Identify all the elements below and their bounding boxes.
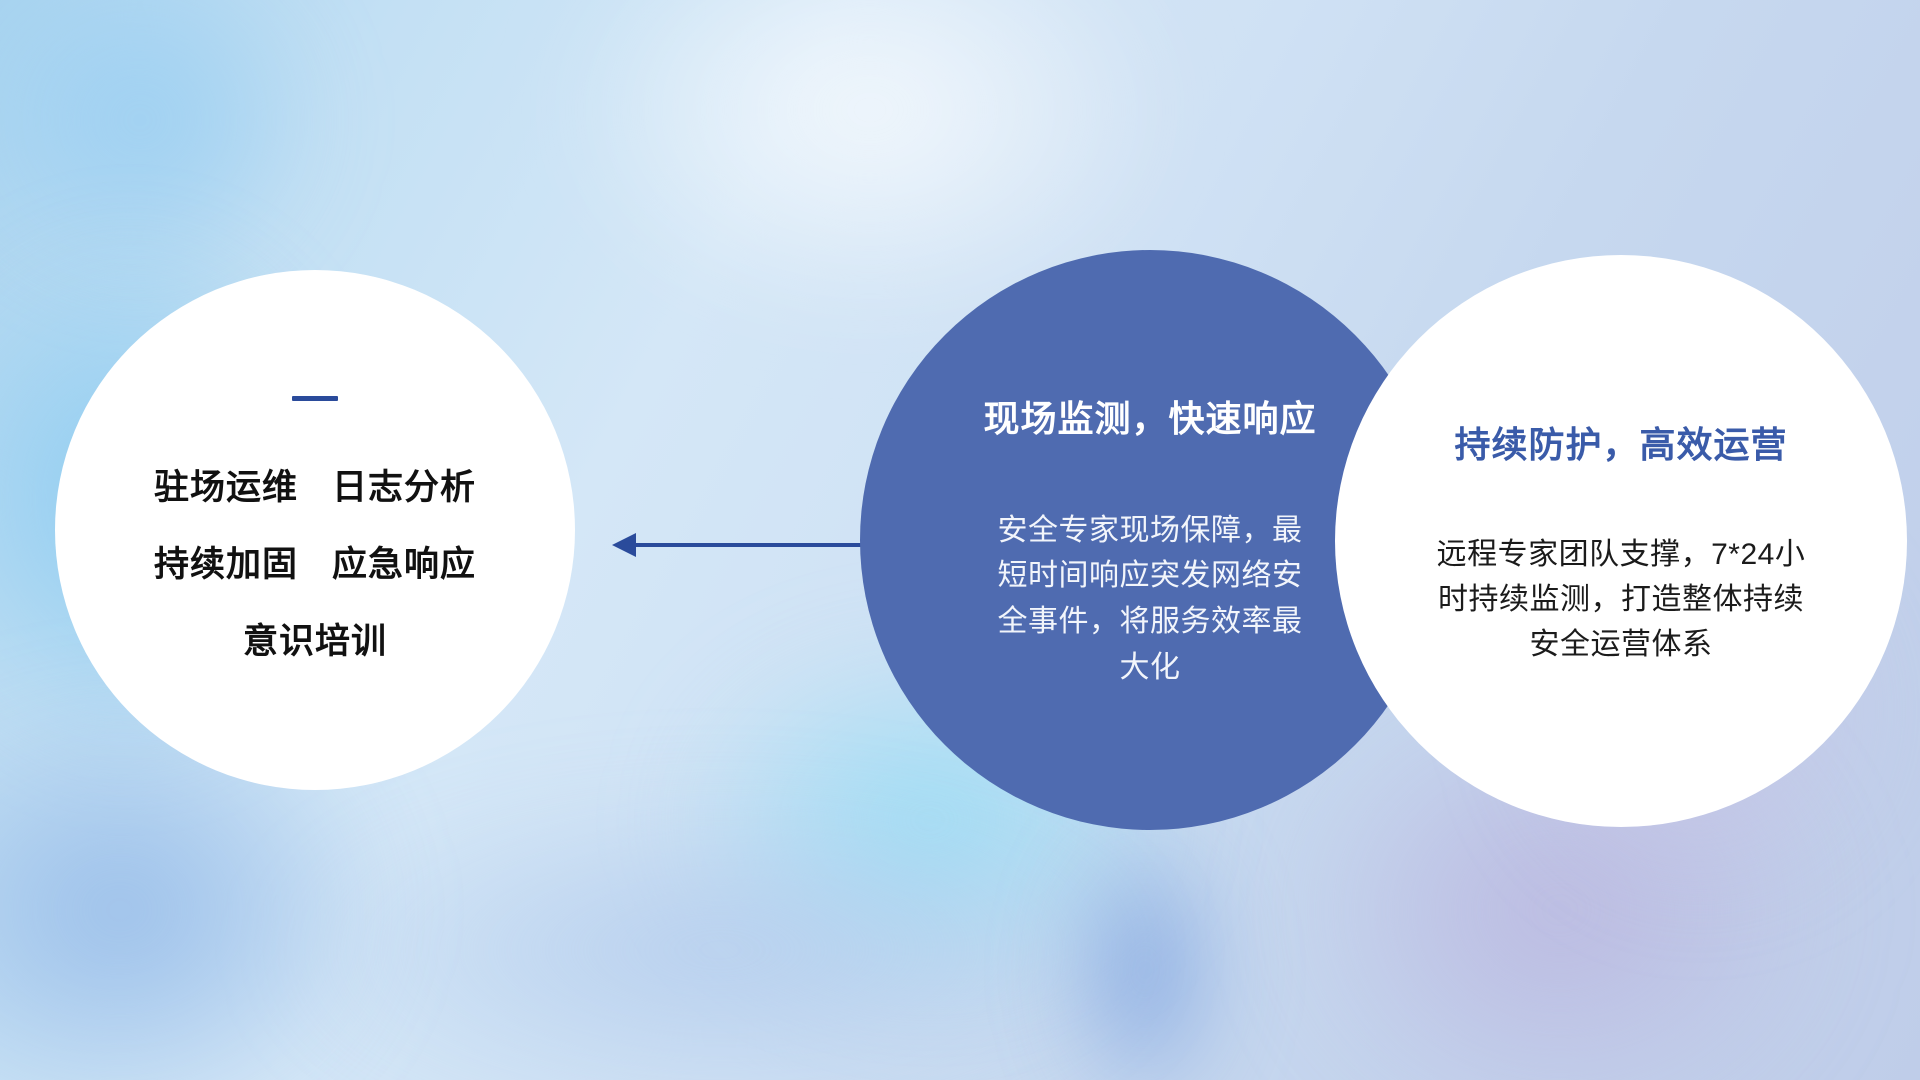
capability-keyword: 日志分析 <box>332 459 476 510</box>
capability-keyword-row: 驻场运维 日志分析 <box>154 459 476 510</box>
accent-dash-icon <box>292 396 338 401</box>
node-title: 持续防护，高效运营 <box>1454 416 1787 468</box>
capability-keyword: 意识培训 <box>243 613 387 664</box>
capability-keyword: 驻场运维 <box>154 459 298 510</box>
capability-keyword: 应急响应 <box>332 536 476 587</box>
capability-keyword-row: 持续加固 应急响应 <box>154 536 476 587</box>
node-title: 现场监测，快速响应 <box>983 390 1316 442</box>
flow-arrow-icon <box>600 515 890 575</box>
capability-keyword-list: 驻场运维 日志分析 持续加固 应急响应 意识培训 <box>154 459 476 664</box>
node-body: 安全专家现场保障，最短时间响应突发网络安全事件，将服务效率最大化 <box>985 508 1315 690</box>
capability-keyword-row: 意识培训 <box>243 613 387 664</box>
node-continuous-protection[interactable]: 持续防护，高效运营 远程专家团队支撑，7*24小时持续监测，打造整体持续安全运营… <box>1335 255 1907 827</box>
node-capabilities[interactable]: 驻场运维 日志分析 持续加固 应急响应 意识培训 <box>55 270 575 790</box>
slide-canvas: 驻场运维 日志分析 持续加固 应急响应 意识培训 现场监测，快速响应 安全专家现… <box>0 0 1920 1080</box>
node-body: 远程专家团队支撑，7*24小时持续监测，打造整体持续安全运营体系 <box>1431 532 1811 667</box>
capability-keyword: 持续加固 <box>154 536 298 587</box>
